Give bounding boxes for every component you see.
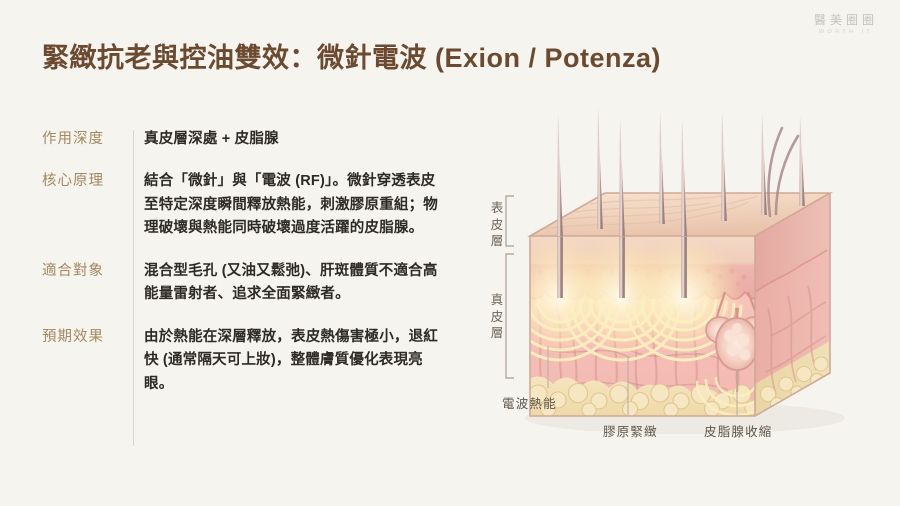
spec-label-audience: 適合對象 <box>42 260 120 282</box>
depth-brackets <box>506 196 514 378</box>
brand-logo: 醫美圈圈 WORTH IT <box>814 14 878 35</box>
spec-value-principle: 結合「微針」與「電波 (RF)」。微針穿透表皮至特定深度瞬間釋放熱能，刺激膠原重… <box>144 170 449 240</box>
callout-rf-heat: 電波熱能 <box>502 393 557 412</box>
spec-row-depth: 作用深度 真皮層深處 + 皮脂腺 <box>42 128 462 151</box>
spec-value-audience: 混合型毛孔 (又油又鬆弛)、肝斑體質不適合高能量雷射者、追求全面緊緻者。 <box>144 260 449 307</box>
spec-table: 作用深度 真皮層深處 + 皮脂腺 核心原理 結合「微針」與「電波 (RF)」。微… <box>42 128 462 415</box>
skin-front-face <box>500 236 777 417</box>
spec-row-principle: 核心原理 結合「微針」與「電波 (RF)」。微針穿透表皮至特定深度瞬間釋放熱能，… <box>42 170 462 240</box>
spec-value-effect: 由於熱能在深層釋放，表皮熱傷害極小，退紅快 (通常隔天可上妝)，整體膚質優化表現… <box>144 326 449 396</box>
layer-label-dermis: 真皮層 <box>490 292 506 342</box>
layer-label-epidermis: 表皮層 <box>490 200 506 250</box>
spec-row-effect: 預期效果 由於熱能在深層釋放，表皮熱傷害極小，退紅快 (通常隔天可上妝)，整體膚… <box>42 326 462 396</box>
spec-row-audience: 適合對象 混合型毛孔 (又油又鬆弛)、肝斑體質不適合高能量雷射者、追求全面緊緻者… <box>42 260 462 307</box>
spec-value-depth: 真皮層深處 + 皮脂腺 <box>144 128 279 151</box>
spec-label-effect: 預期效果 <box>42 326 120 348</box>
callout-sebaceous-contraction: 皮脂腺收縮 <box>704 421 773 440</box>
skin-block-svg <box>470 96 900 476</box>
slide-root: 醫美圈圈 WORTH IT 緊緻抗老與控油雙效：微針電波 (Exion / Po… <box>0 0 900 506</box>
page-title: 緊緻抗老與控油雙效：微針電波 (Exion / Potenza) <box>42 36 661 75</box>
brand-logo-cn: 醫美圈圈 <box>814 14 878 26</box>
spec-label-principle: 核心原理 <box>42 170 120 192</box>
callout-collagen-tightening: 膠原緊緻 <box>603 421 658 440</box>
spec-divider <box>133 130 134 446</box>
brand-logo-en: WORTH IT <box>814 29 878 35</box>
skin-cross-section-illustration: 表皮層 真皮層 電波熱能 膠原緊緻 皮脂腺收縮 <box>470 96 900 476</box>
spec-label-depth: 作用深度 <box>42 128 120 150</box>
